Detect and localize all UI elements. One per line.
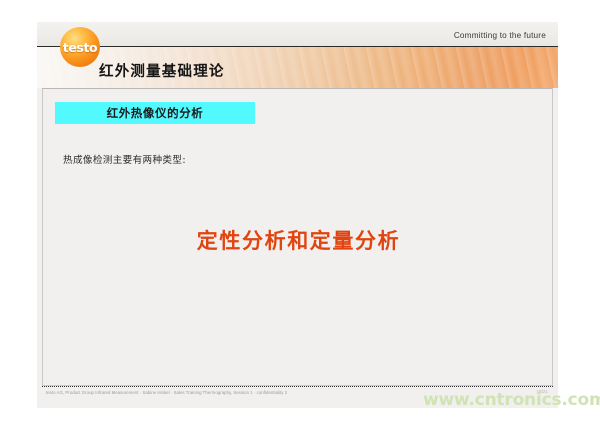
slide-title: 红外测量基础理论 bbox=[99, 60, 225, 81]
emphasis-headline: 定性分析和定量分析 bbox=[43, 225, 554, 255]
logo-wordmark: testo bbox=[60, 40, 100, 55]
screenshot-canvas: Committing to the future testo 红外测量基础理论 … bbox=[0, 0, 600, 424]
testo-logo: testo bbox=[60, 27, 100, 67]
footer-divider bbox=[42, 386, 553, 387]
brand-tagline: Committing to the future bbox=[454, 31, 546, 40]
header-divider-rule bbox=[37, 46, 558, 47]
footer-text: testo AG, Product Group Infrared Measure… bbox=[46, 390, 287, 395]
slide-content-area: 红外热像仪的分析 热成像检测主要有两种类型: 定性分析和定量分析 bbox=[42, 88, 553, 386]
section-heading-banner: 红外热像仪的分析 bbox=[55, 102, 255, 124]
section-heading-label: 红外热像仪的分析 bbox=[55, 102, 255, 124]
body-paragraph: 热成像检测主要有两种类型: bbox=[63, 152, 186, 166]
site-watermark: www.cntronics.com bbox=[423, 390, 600, 410]
presentation-slide: Committing to the future testo 红外测量基础理论 … bbox=[37, 22, 558, 408]
